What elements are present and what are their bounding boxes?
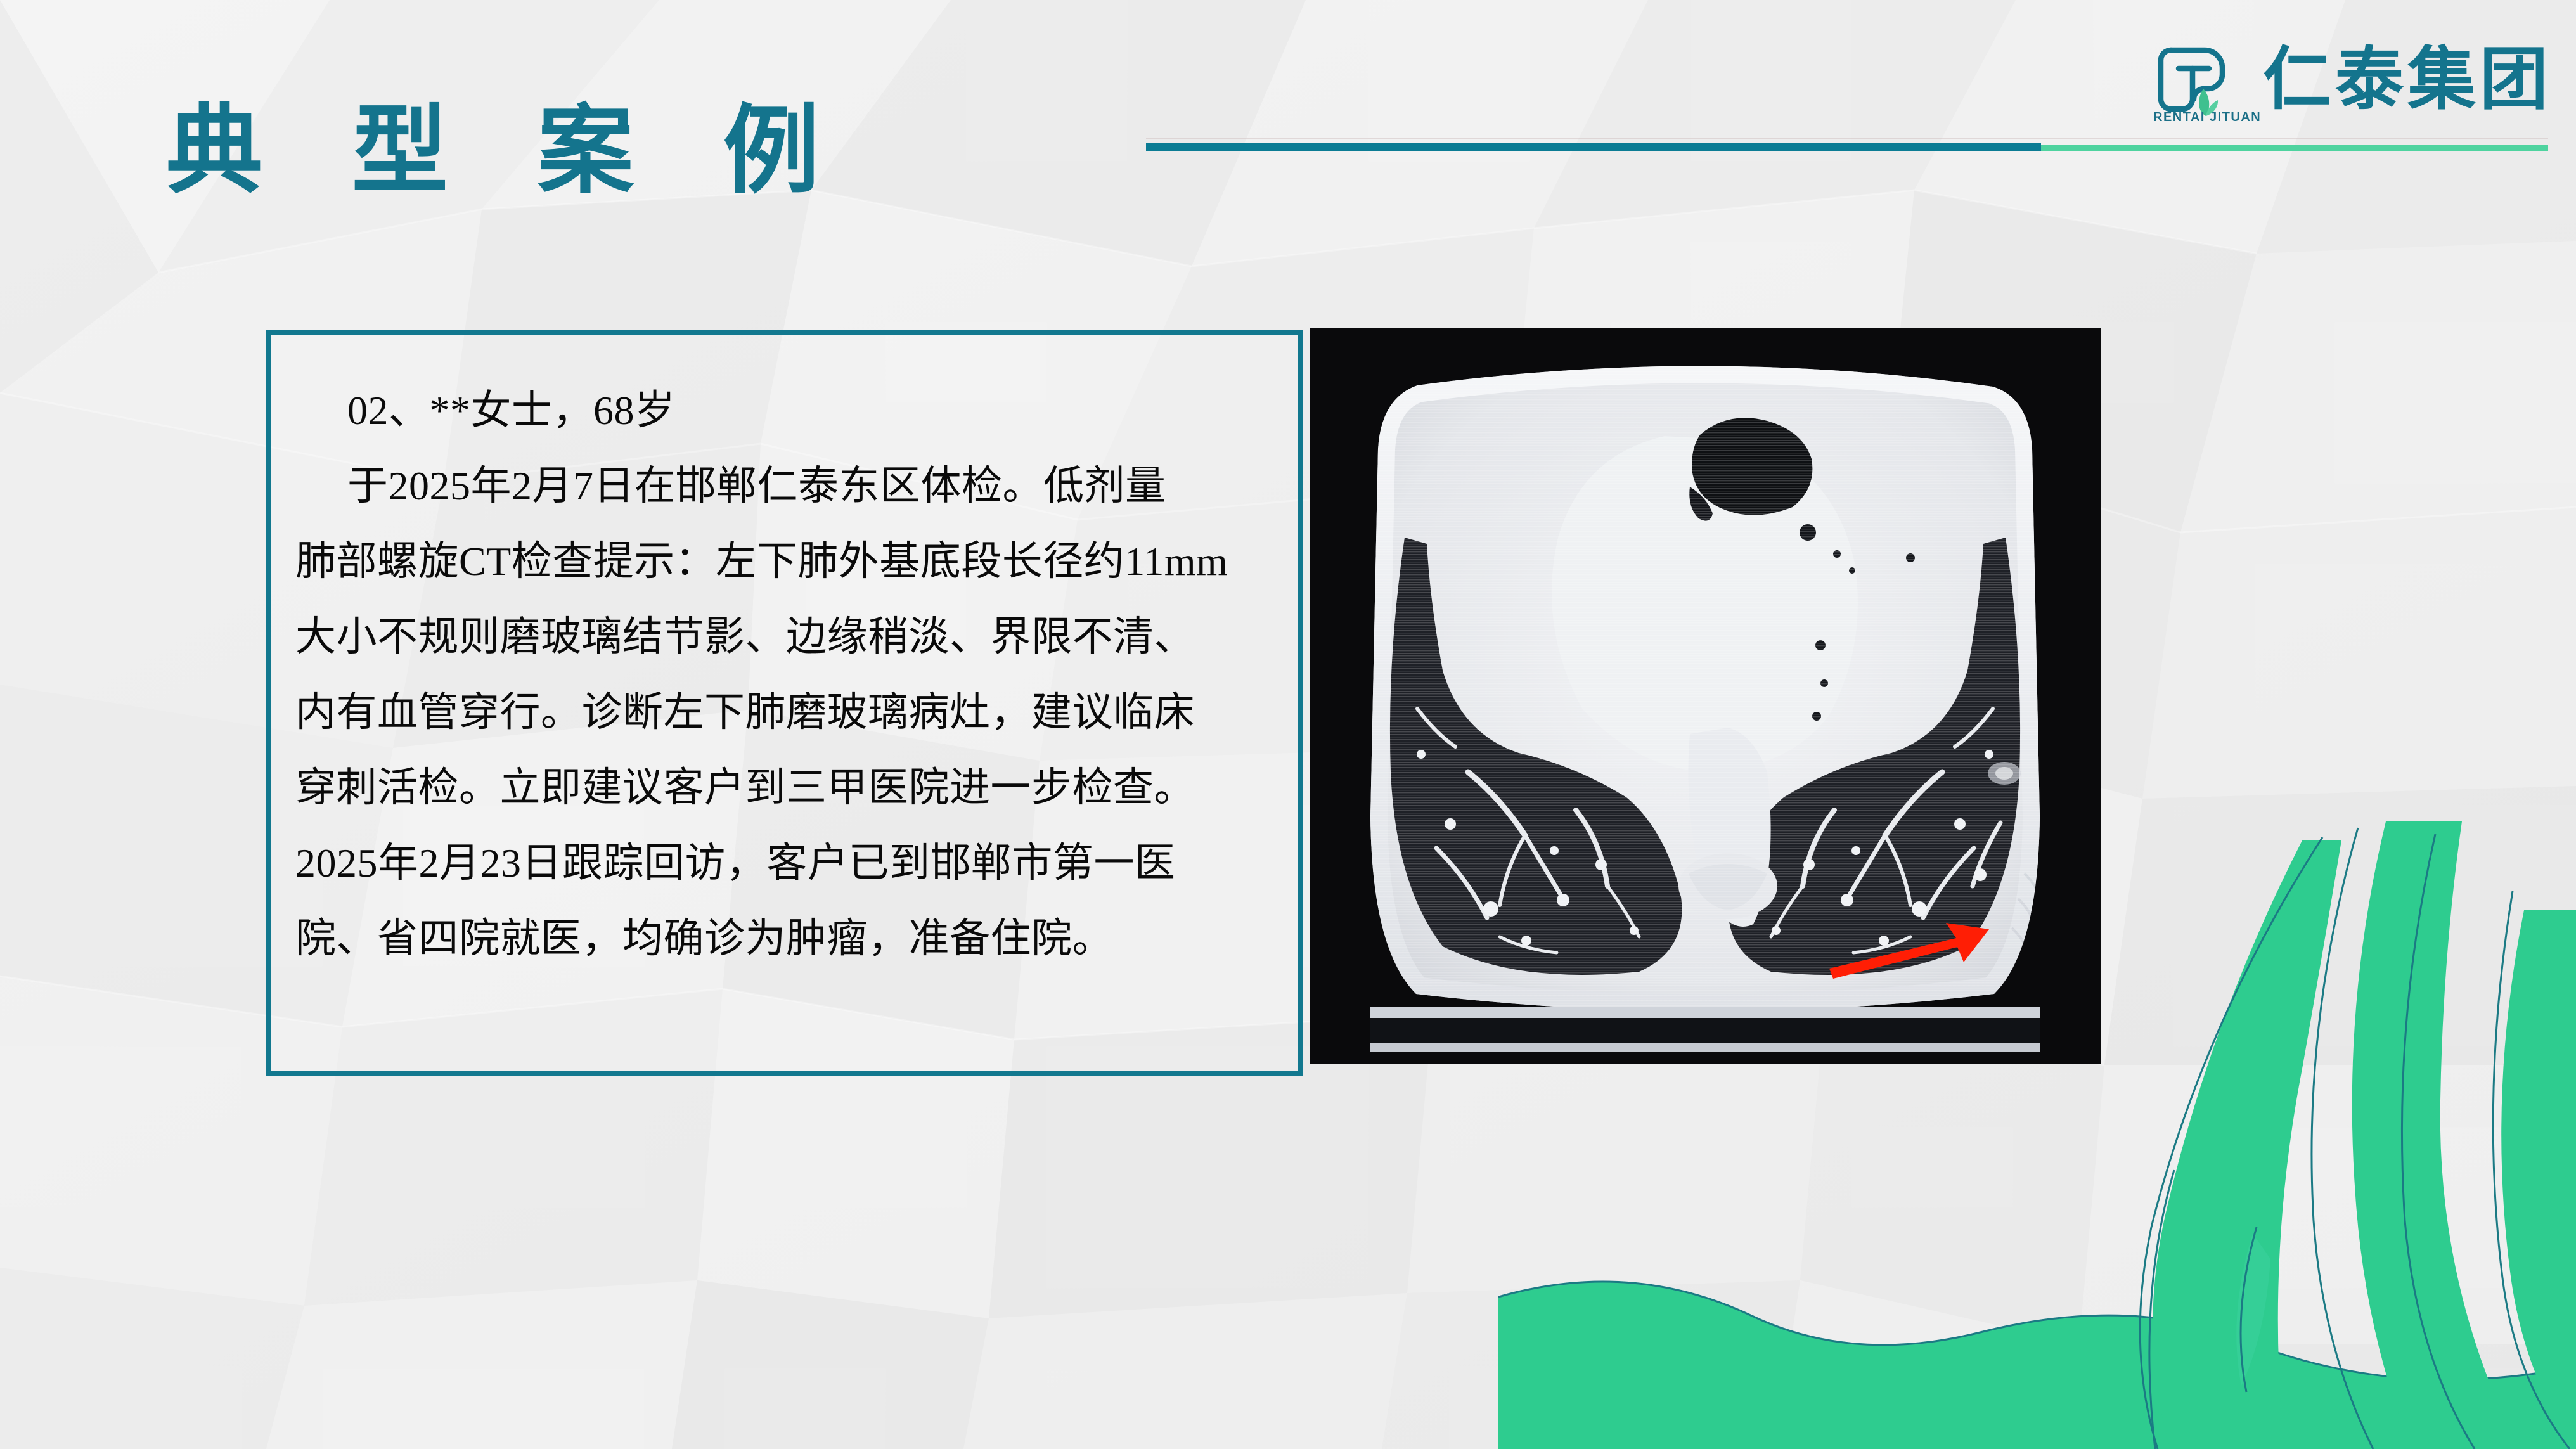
- brand-logo: RENTAI JITUAN 仁泰集团: [2150, 39, 2548, 134]
- case-line: 于2025年2月7日在邯郸仁泰东区体检。低剂量: [295, 448, 1279, 524]
- case-line: 穿刺活检。立即建议客户到三甲医院进一步检查。: [295, 750, 1279, 825]
- case-line: 2025年2月23日跟踪回访，客户已到邯郸市第一医: [295, 825, 1279, 901]
- rentai-logo-mark-icon: RENTAI JITUAN: [2150, 39, 2245, 134]
- header-divider-teal: [1146, 143, 2041, 151]
- case-line: 内有血管穿行。诊断左下肺磨玻璃病灶，建议临床: [295, 674, 1279, 750]
- case-text-box: 02、**女士，68岁 于2025年2月7日在邯郸仁泰东区体检。低剂量 肺部螺旋…: [266, 330, 1303, 1076]
- logo-wordmark: 仁泰集团: [2263, 39, 2552, 120]
- ct-scan-image: [1310, 328, 2101, 1064]
- header-divider-green: [2041, 145, 2548, 151]
- slide-canvas: 典 型 案 例 RENTAI JITUAN 仁泰集团 02、**女士，68岁 于…: [0, 0, 2576, 1449]
- page-title: 典 型 案 例: [166, 100, 847, 202]
- case-text-body: 02、**女士，68岁 于2025年2月7日在邯郸仁泰东区体检。低剂量 肺部螺旋…: [295, 373, 1279, 976]
- case-line: 肺部螺旋CT检查提示：左下肺外基底段长径约11mm: [295, 524, 1279, 599]
- logo-romaji-text: RENTAI JITUAN: [2153, 110, 2245, 125]
- case-line: 02、**女士，68岁: [295, 373, 1279, 448]
- header-hairline: [1146, 138, 2548, 139]
- case-line: 大小不规则磨玻璃结节影、边缘稍淡、界限不清、: [295, 599, 1279, 674]
- case-line: 院、省四院就医，均确诊为肿瘤，准备住院。: [295, 901, 1279, 976]
